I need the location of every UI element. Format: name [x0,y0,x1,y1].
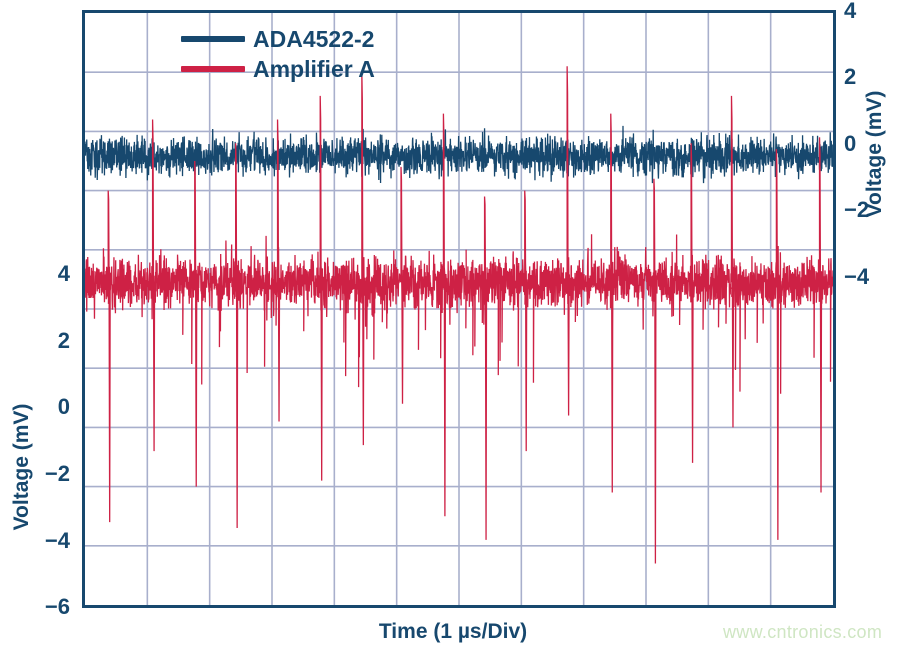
legend-item-ada4522-2: ADA4522-2 [181,27,375,51]
y-tick-left-2: 2 [58,330,70,352]
y-tick-left-neg4: −4 [45,530,70,552]
watermark: www.cntronics.com [723,622,882,643]
chart-figure: ADA4522-2 Amplifier A 4 2 0 −2 −4 −6 4 2… [0,0,906,650]
legend-label-ada4522-2: ADA4522-2 [253,28,374,51]
legend-swatch-amplifier-a [181,66,245,72]
y-tick-right-neg4: −4 [844,266,869,288]
trace-canvas [85,13,833,605]
legend-swatch-ada4522-2 [181,36,245,42]
y-tick-left-neg2: −2 [45,463,70,485]
y-tick-right-4: 4 [844,0,856,22]
y-tick-right-0: 0 [844,133,856,155]
y-axis-right-title: Voltage (mV) [863,69,887,239]
y-tick-right-2: 2 [844,66,856,88]
y-tick-left-0: 0 [58,396,70,418]
legend-label-amplifier-a: Amplifier A [253,58,375,81]
y-axis-left-ticks: 4 2 0 −2 −4 −6 [0,0,70,650]
plot-area: ADA4522-2 Amplifier A [82,10,836,608]
y-axis-left-title: Voltage (mV) [10,382,34,552]
y-tick-left-neg6: −6 [45,596,70,618]
legend-item-amplifier-a: Amplifier A [181,57,375,81]
trace-ada4522-2 [85,126,833,183]
y-tick-left-4: 4 [58,263,70,285]
legend: ADA4522-2 Amplifier A [181,27,375,81]
